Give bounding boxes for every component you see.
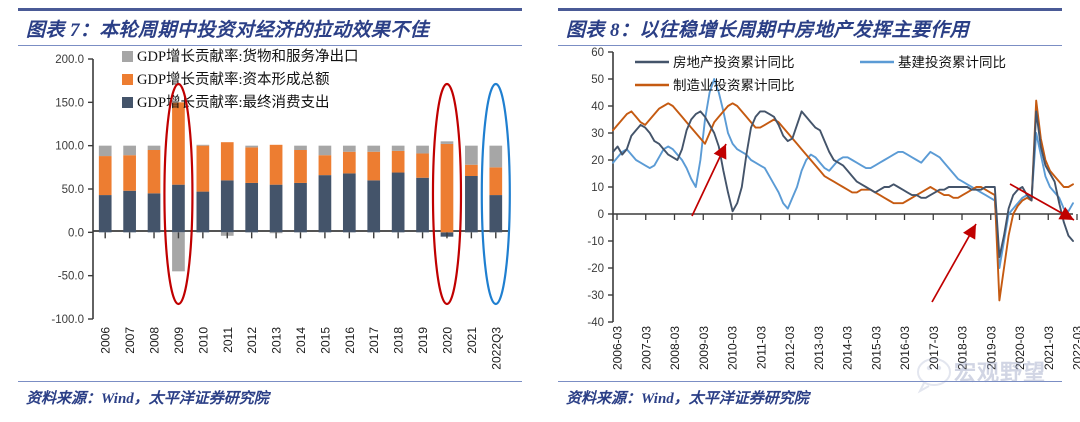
- chart8-x-labels: 2006-032007-032008-032009-032010-032011-…: [611, 326, 1080, 370]
- chart8-legend: 房地产投资累计同比基建投资累计同比制造业投资累计同比: [635, 54, 1006, 93]
- chart7-bar-segment: [197, 145, 210, 146]
- chart7-bar-segment: [99, 195, 112, 232]
- chart7-y-tick-label: 100.0: [55, 141, 84, 153]
- chart8-series-lines: [613, 79, 1073, 300]
- chart8-source-block: 资料来源：Wind，太平洋证券研究院: [558, 381, 1062, 408]
- chart7-bar-segment: [148, 150, 161, 193]
- chart7-bar-segment: [392, 151, 405, 173]
- chart8-y-axis: 6050403020100-10-20-30-40: [587, 47, 613, 329]
- chart8-y-tick-label: 50: [591, 74, 604, 86]
- chart7-legend-swatch: [122, 51, 133, 62]
- chart7-y-tick-label: 150.0: [55, 97, 84, 109]
- chart7-x-tick-label: 2007: [123, 327, 137, 354]
- chart7-bar-segment: [294, 183, 307, 232]
- chart7-bar-segment: [294, 146, 307, 150]
- chart7-bar-segment: [148, 193, 161, 232]
- chart7-bar-segment: [221, 180, 234, 232]
- chart8-y-tick-label: 60: [591, 47, 604, 59]
- chart8-series-line: [613, 111, 1073, 257]
- chart7-bar-segment: [489, 167, 502, 195]
- chart8-svg: 6050403020100-10-20-30-40 2006-032007-03…: [540, 44, 1080, 384]
- chart8-series-line: [613, 101, 1073, 301]
- chart7-bar-segment: [367, 152, 380, 181]
- chart7-bar-segment: [367, 180, 380, 232]
- chart7-bar-segment: [197, 146, 210, 192]
- chart8-plot: 6050403020100-10-20-30-40 2006-032007-03…: [540, 44, 1080, 384]
- chart7-bar-segment: [172, 102, 185, 184]
- chart7-x-tick-label: 2020: [440, 327, 454, 354]
- chart7-x-labels: 2006200720082009201020112012201320142015…: [99, 327, 504, 370]
- chart7-bar-segment: [270, 145, 283, 185]
- chart7-source-block: 资料来源：Wind，太平洋证券研究院: [18, 381, 522, 408]
- chart7-bar-segment: [319, 146, 332, 156]
- chart8-x-tick-label: 2019-03: [984, 326, 998, 370]
- chart7-plot: 200.0150.0100.050.00.0-50.0-100.0 200620…: [0, 44, 540, 384]
- chart7-x-tick-label: 2021: [465, 327, 479, 354]
- chart7-legend-swatch: [122, 97, 133, 108]
- chart8-title-block: 图表 8：以往稳增长周期中房地产发挥主要作用: [558, 8, 1062, 46]
- chart7-bar-segment: [343, 146, 356, 152]
- chart7-y-tick-label: -50.0: [58, 271, 84, 283]
- chart7-bar-segment: [123, 155, 136, 191]
- chart7-bar-segment: [123, 191, 136, 233]
- chart7-bar-segment: [245, 183, 258, 232]
- chart7-y-tick-label: 50.0: [62, 184, 84, 196]
- chart8-x-tick-label: 2009-03: [697, 326, 711, 370]
- panel-chart-8: 图表 8：以往稳增长周期中房地产发挥主要作用 6050403020100-10-…: [540, 0, 1080, 422]
- chart7-bar-segment: [221, 142, 234, 180]
- chart7-source: 资料来源：Wind，太平洋证券研究院: [18, 387, 522, 408]
- chart8-x-tick-label: 2017-03: [927, 326, 941, 370]
- chart7-x-tick-label: 2010: [196, 327, 210, 354]
- chart8-x-tick-label: 2020-03: [1013, 326, 1027, 370]
- chart7-title: 图表 7：本轮周期中投资对经济的拉动效果不佳: [18, 11, 522, 45]
- chart7-bar-segment: [489, 195, 502, 232]
- chart7-bars: [99, 102, 502, 271]
- chart7-x-tick-label: 2011: [221, 327, 235, 353]
- chart8-y-tick-label: -30: [587, 290, 604, 302]
- chart8-x-tick-label: 2016-03: [898, 326, 912, 370]
- chart8-y-tick-label: -20: [587, 263, 604, 275]
- chart8-x-tick-label: 2021-03: [1042, 326, 1056, 370]
- chart7-bar-segment: [99, 156, 112, 195]
- chart8-source-rule: [558, 381, 1062, 382]
- chart8-x-tick-label: 2011-03: [754, 326, 768, 369]
- chart7-bar-segment: [465, 176, 478, 232]
- chart7-bar-segment: [416, 146, 429, 154]
- chart7-x-ticks: [105, 232, 496, 238]
- chart7-x-tick-label: 2019: [416, 327, 430, 354]
- chart8-y-tick-label: 0: [598, 209, 604, 221]
- chart8-y-tick-label: 30: [591, 128, 604, 140]
- chart7-bar-segment: [392, 173, 405, 233]
- chart8-legend-label: 制造业投资累计同比: [673, 78, 795, 93]
- chart7-y-axis: 200.0150.0100.050.00.0-50.0-100.0: [51, 54, 93, 326]
- chart7-bar-segment: [319, 155, 332, 175]
- chart7-bar-segment: [465, 146, 478, 165]
- chart7-bar-segment: [172, 185, 185, 233]
- chart8-source: 资料来源：Wind，太平洋证券研究院: [558, 387, 1062, 408]
- chart7-source-rule: [18, 381, 522, 382]
- chart7-bar-segment: [319, 175, 332, 232]
- chart7-bar-segment: [294, 150, 307, 183]
- chart7-bar-segment: [343, 152, 356, 174]
- chart8-y-tick-label: -10: [587, 236, 604, 248]
- chart7-x-tick-label: 2009: [172, 327, 186, 354]
- chart7-bar-segment: [197, 192, 210, 233]
- chart7-legend-label: GDP增长贡献率:货物和服务净出口: [137, 48, 359, 65]
- chart8-legend-label: 基建投资累计同比: [898, 54, 1006, 70]
- chart8-y-tick-label: -40: [587, 317, 604, 329]
- chart7-legend-swatch: [122, 74, 133, 85]
- figure-page: 图表 7：本轮周期中投资对经济的拉动效果不佳 200.0150.0100.050…: [0, 0, 1080, 422]
- chart8-x-tick-label: 2012-03: [783, 326, 797, 370]
- chart8-x-tick-label: 2018-03: [956, 326, 970, 370]
- chart8-x-tick-label: 2014-03: [841, 326, 855, 370]
- chart7-x-tick-label: 2017: [367, 327, 381, 354]
- chart7-y-tick-label: 200.0: [55, 54, 84, 66]
- chart8-annotations: [692, 144, 1074, 302]
- chart8-y-tick-label: 10: [591, 182, 604, 194]
- chart7-bar-segment: [123, 146, 136, 156]
- chart7-x-tick-label: 2012: [245, 327, 259, 354]
- chart7-x-tick-label: 2008: [148, 327, 162, 354]
- chart7-legend: GDP增长贡献率:货物和服务净出口GDP增长贡献率:资本形成总额GDP增长贡献率…: [122, 48, 359, 111]
- chart7-x-tick-label: 2015: [318, 327, 332, 354]
- chart7-bar-segment: [489, 146, 502, 168]
- chart7-bar-segment: [245, 147, 258, 183]
- chart7-x-tick-label: 2018: [392, 327, 406, 354]
- chart7-bar-segment: [148, 146, 161, 150]
- chart7-y-tick-label: 0.0: [68, 227, 84, 239]
- chart7-x-tick-label: 2014: [294, 327, 308, 354]
- chart7-bar-segment: [367, 146, 380, 152]
- chart7-bar-segment: [441, 141, 454, 144]
- chart8-x-tick-label: 2013-03: [812, 326, 826, 370]
- chart8-x-tick-label: 2006-03: [611, 326, 625, 370]
- chart7-legend-label: GDP增长贡献率:资本形成总额: [137, 71, 330, 88]
- chart7-y-tick-label: -100.0: [51, 314, 84, 326]
- chart7-svg: 200.0150.0100.050.00.0-50.0-100.0 200620…: [0, 44, 540, 384]
- chart7-bar-segment: [416, 178, 429, 233]
- chart7-bar-segment: [441, 144, 454, 232]
- chart8-y-tick-label: 20: [591, 155, 604, 167]
- chart7-bar-segment: [99, 146, 112, 156]
- chart7-bar-segment: [270, 185, 283, 233]
- chart7-x-tick-label: 2013: [270, 327, 284, 354]
- chart7-x-tick-label: 2022Q3: [489, 327, 503, 370]
- panel-chart-7: 图表 7：本轮周期中投资对经济的拉动效果不佳 200.0150.0100.050…: [0, 0, 540, 422]
- chart8-legend-label: 房地产投资累计同比: [673, 55, 795, 70]
- chart7-x-tick-label: 2006: [99, 327, 113, 354]
- chart7-bar-segment: [343, 173, 356, 232]
- chart7-bar-segment: [416, 153, 429, 177]
- chart8-y-tick-label: 40: [591, 101, 604, 113]
- chart7-bar-segment: [245, 146, 258, 148]
- chart7-annotations: [164, 84, 509, 304]
- chart7-bar-segment: [392, 146, 405, 151]
- chart8-title: 图表 8：以往稳增长周期中房地产发挥主要作用: [558, 11, 1062, 45]
- chart8-annotation-arrow-head: [963, 224, 976, 240]
- chart8-x-tick-label: 2022-03: [1071, 326, 1080, 370]
- chart7-title-block: 图表 7：本轮周期中投资对经济的拉动效果不佳: [18, 8, 522, 46]
- chart8-x-tick-label: 2015-03: [869, 326, 883, 370]
- chart7-legend-label: GDP增长贡献率:最终消费支出: [137, 94, 330, 111]
- chart7-bar-segment: [465, 165, 478, 176]
- chart8-x-tick-label: 2010-03: [726, 326, 740, 370]
- chart8-x-tick-label: 2008-03: [668, 326, 682, 370]
- chart7-x-tick-label: 2016: [343, 327, 357, 354]
- chart8-x-tick-label: 2007-03: [639, 326, 653, 370]
